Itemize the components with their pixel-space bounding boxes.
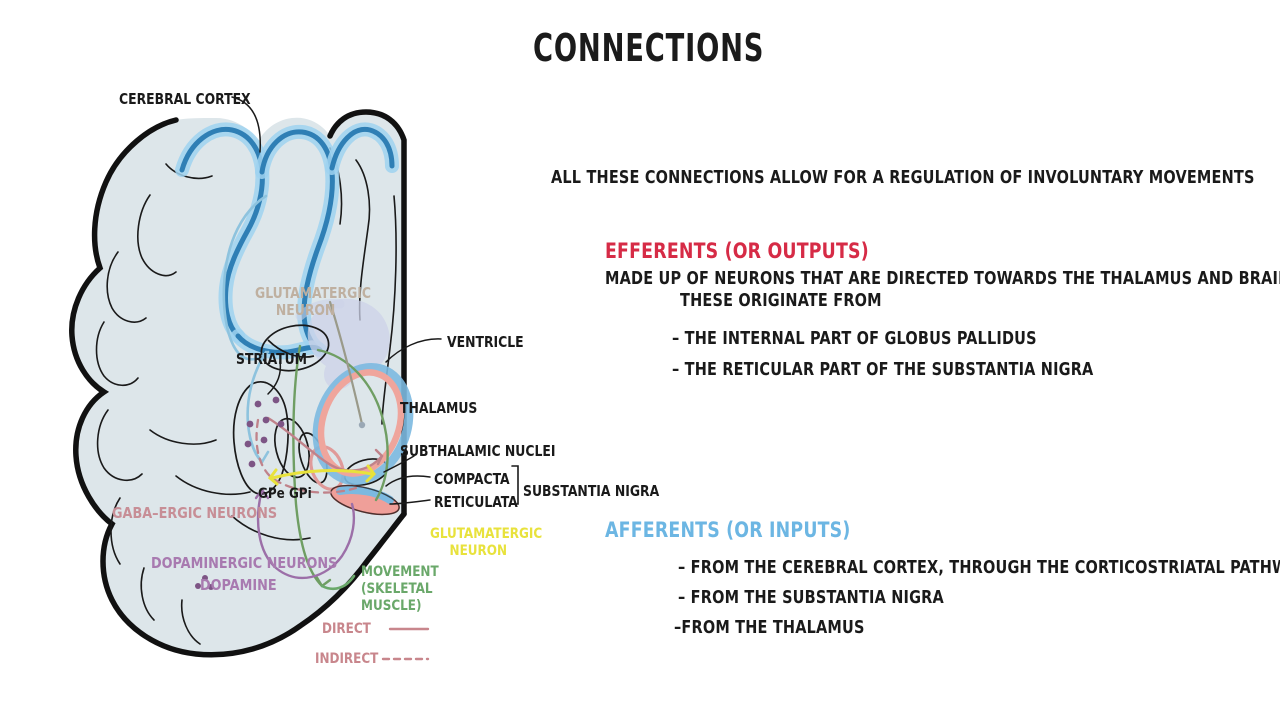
- label-glutamatergic-neuron-stn: GLUTAMATERGIC NEURON: [430, 526, 527, 560]
- intro-statement: ALL THESE CONNECTIONS ALLOW FOR A REGULA…: [551, 168, 1255, 188]
- label-striatum: STRIATUM: [236, 350, 307, 368]
- legend-label-indirect: INDIRECT: [315, 651, 378, 667]
- label-reticulata: RETICULATA: [434, 493, 518, 511]
- label-thalamus: THALAMUS: [400, 399, 477, 417]
- label-gpe-gpi: GPe GPi: [258, 486, 312, 502]
- afferents-item: – FROM THE CEREBRAL CORTEX, THROUGH THE …: [678, 558, 1280, 578]
- efferents-origin-lead: THESE ORIGINATE FROM: [680, 291, 882, 311]
- slide-canvas: CONNECTIONS: [0, 0, 1280, 720]
- efferents-item: – THE INTERNAL PART OF GLOBUS PALLIDUS: [672, 329, 1037, 349]
- label-movement: MOVEMENT (SKELETAL MUSCLE): [361, 564, 490, 615]
- efferents-item: – THE RETICULAR PART OF THE SUBSTANTIA N…: [672, 360, 1093, 380]
- label-cerebral-cortex: CEREBRAL CORTEX: [119, 90, 251, 108]
- label-gaba-ergic-neurons: GABA–ERGIC NEURONS: [112, 504, 277, 522]
- afferents-item: –FROM THE THALAMUS: [674, 618, 865, 638]
- label-substantia-nigra: SUBSTANTIA NIGRA: [523, 482, 659, 500]
- page-title: CONNECTIONS: [533, 26, 764, 70]
- label-ventricle: VENTRICLE: [447, 333, 524, 351]
- label-dopaminergic-neurons: DOPAMINERGIC NEURONS: [151, 554, 337, 572]
- brain-outline: [72, 112, 404, 655]
- afferents-heading: AFFERENTS (OR INPUTS): [605, 518, 851, 542]
- efferents-heading: EFFERENTS (OR OUTPUTS): [605, 239, 869, 263]
- label-glutamatergic-neuron-cortical: GLUTAMATERGIC NEURON: [255, 285, 356, 319]
- label-subthalamic-nuclei: SUBTHALAMIC NUCLEI: [400, 442, 555, 460]
- label-dopamine: DOPAMINE: [200, 576, 277, 594]
- efferents-description: MADE UP OF NEURONS THAT ARE DIRECTED TOW…: [605, 269, 1280, 289]
- afferents-item: – FROM THE SUBSTANTIA NIGRA: [678, 588, 944, 608]
- label-compacta: COMPACTA: [434, 470, 510, 488]
- legend-label-direct: DIRECT: [322, 621, 371, 637]
